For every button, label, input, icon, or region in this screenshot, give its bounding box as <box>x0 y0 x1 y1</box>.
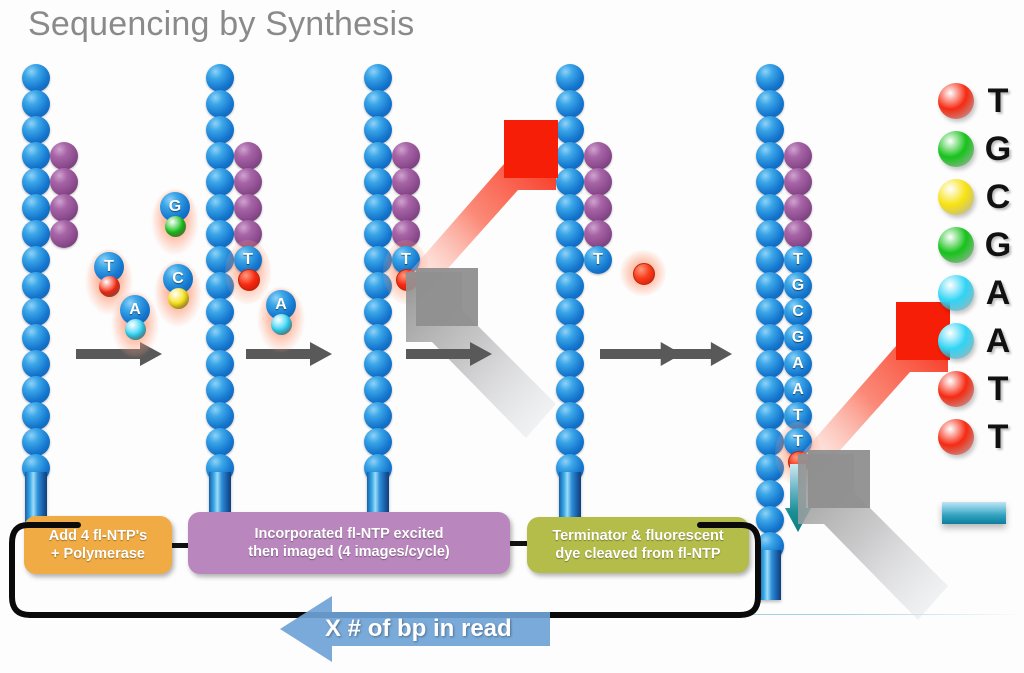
legend-row: G <box>938 222 1024 270</box>
template-strand-bead <box>206 428 234 456</box>
excitation-laser-beam <box>406 94 566 284</box>
incorporated-base-t: T <box>784 246 812 274</box>
base-letter: T <box>584 246 612 274</box>
template-strand-bead <box>22 376 50 404</box>
template-strand-bead <box>364 168 392 196</box>
template-strand-bead <box>206 350 234 378</box>
free-nucleotide-g: G <box>152 190 198 254</box>
legend-row: T <box>938 78 1024 126</box>
template-strand-bead <box>364 402 392 430</box>
legend-base-letter: G <box>982 128 1014 170</box>
template-strand-bead <box>22 324 50 352</box>
template-strand-bead <box>364 298 392 326</box>
template-strand-bead <box>756 246 784 274</box>
legend-base-letter: A <box>982 272 1014 314</box>
primer-bead <box>784 194 812 222</box>
legend-base-letter: A <box>982 320 1014 362</box>
template-strand-bead <box>206 64 234 92</box>
diagram-canvas: Sequencing by Synthesis TTTTGCGAATT TGCA… <box>0 0 1024 673</box>
free-nucleotide-a: A <box>258 288 304 352</box>
legend-row: G <box>938 126 1024 174</box>
legend-base-letter: T <box>982 368 1014 410</box>
template-strand-bead <box>206 116 234 144</box>
legend-dye-dot <box>938 371 974 407</box>
primer-bead <box>584 194 612 222</box>
free-nucleotide-c: C <box>155 262 201 326</box>
legend-base-letter: G <box>982 224 1014 266</box>
legend-dye-dot <box>938 419 974 455</box>
primer-bead <box>50 142 78 170</box>
template-strand-bead <box>22 402 50 430</box>
base-letter: T <box>784 246 812 274</box>
free-nucleotide-a: A <box>112 293 158 357</box>
legend-base-letter: T <box>982 416 1014 458</box>
legend-row: A <box>938 318 1024 366</box>
template-strand-bead <box>756 480 784 508</box>
template-strand-bead <box>22 350 50 378</box>
template-strand-bead <box>206 168 234 196</box>
template-strand-bead <box>206 220 234 248</box>
base-call-legend: TGCGAATT <box>938 78 1024 462</box>
nucleotide-dye <box>125 319 146 340</box>
template-strand-bead <box>22 168 50 196</box>
template-strand-bead <box>756 64 784 92</box>
legend-base-letter: T <box>982 80 1014 122</box>
template-strand-bead <box>364 324 392 352</box>
template-strand-bead <box>206 324 234 352</box>
legend-dye-dot <box>938 275 974 311</box>
template-strand-bead <box>756 376 784 404</box>
template-strand-bead <box>206 376 234 404</box>
attached-dye <box>238 269 260 291</box>
template-strand-bead <box>22 116 50 144</box>
incorporated-base-t: T <box>584 246 612 274</box>
legend-row: T <box>938 366 1024 414</box>
template-strand-bead <box>22 272 50 300</box>
legend-row: C <box>938 174 1024 222</box>
primer-bead <box>584 142 612 170</box>
template-strand-bead <box>756 298 784 326</box>
template-strand-bead <box>556 64 584 92</box>
template-strand-bead <box>756 90 784 118</box>
primer-bead <box>50 220 78 248</box>
template-strand-bead <box>22 246 50 274</box>
template-strand-bead <box>756 350 784 378</box>
template-strand-bead <box>756 168 784 196</box>
template-strand-bead <box>22 142 50 170</box>
template-strand-bead <box>206 402 234 430</box>
template-strand-bead <box>756 220 784 248</box>
nucleotide-dye <box>165 216 186 237</box>
legend-dye-dot <box>938 179 974 215</box>
legend-dye-dot <box>938 227 974 263</box>
legend-base-letter: C <box>982 176 1014 218</box>
nucleotide-dye <box>271 314 292 335</box>
template-strand-bead <box>364 220 392 248</box>
template-strand-bead <box>364 90 392 118</box>
legend-dye-dot <box>938 131 974 167</box>
legend-dye-dot <box>938 83 974 119</box>
template-strand-bead <box>756 272 784 300</box>
template-strand-bead <box>206 194 234 222</box>
process-step-arrow <box>406 341 492 367</box>
primer-bead <box>234 168 262 196</box>
nucleotide-dye <box>168 288 189 309</box>
legend-row: T <box>938 414 1024 462</box>
legend-row: A <box>938 270 1024 318</box>
primer-bead <box>50 168 78 196</box>
legend-dye-dot <box>938 323 974 359</box>
cleaved-dye-molecule <box>620 250 666 296</box>
template-strand-bead <box>22 298 50 326</box>
template-strand-bead <box>364 194 392 222</box>
primer-bead <box>234 194 262 222</box>
primer-bead <box>784 220 812 248</box>
template-strand-bead <box>22 90 50 118</box>
template-strand-bead <box>206 298 234 326</box>
template-strand-bead <box>756 142 784 170</box>
template-strand-bead <box>364 428 392 456</box>
primer-bead <box>784 168 812 196</box>
template-strand-bead <box>364 64 392 92</box>
bp-in-read-label: X # of bp in read <box>325 615 512 643</box>
primer-bead <box>784 142 812 170</box>
template-strand-bead <box>756 402 784 430</box>
template-strand-bead <box>206 142 234 170</box>
excitation-laser-beam <box>798 276 958 466</box>
template-strand-bead <box>756 324 784 352</box>
template-strand-bead <box>756 116 784 144</box>
primer-bead <box>584 168 612 196</box>
repeat-cycle-arrow <box>600 341 732 367</box>
page-title: Sequencing by Synthesis <box>28 5 414 44</box>
template-strand-bead <box>22 64 50 92</box>
template-strand-bead <box>364 376 392 404</box>
cleaved-dye-core <box>633 263 655 285</box>
primer-bead <box>234 142 262 170</box>
template-strand-bead <box>364 116 392 144</box>
template-strand-bead <box>22 428 50 456</box>
template-strand-bead <box>22 220 50 248</box>
template-strand-bead <box>206 90 234 118</box>
emission-signal-beam <box>798 448 973 628</box>
template-strand-bead <box>756 194 784 222</box>
primer-bead <box>50 194 78 222</box>
template-strand-bead <box>22 194 50 222</box>
template-strand-bead <box>364 142 392 170</box>
template-strand-bead <box>364 350 392 378</box>
primer-bead <box>584 220 612 248</box>
legend-flowcell-bar <box>942 502 1006 524</box>
